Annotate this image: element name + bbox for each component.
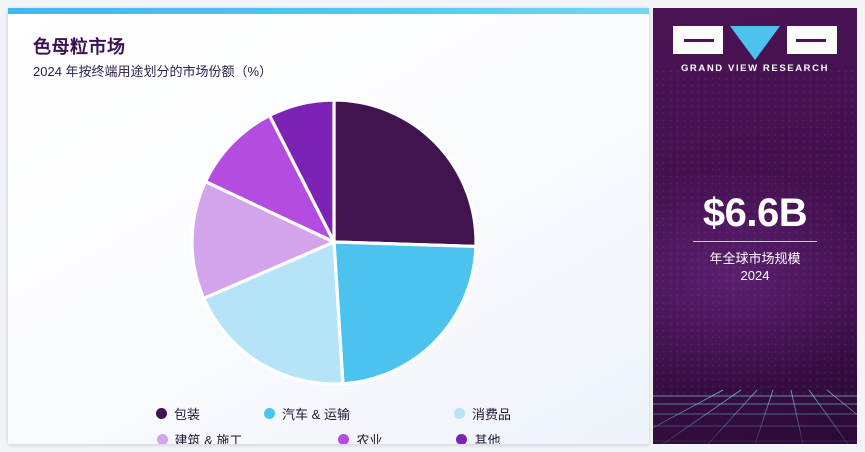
logo-right-bracket-icon [787,26,837,54]
legend-label-others: 其他 [474,430,500,445]
legend-row-2: 建筑 & 施工 农业 其他 [8,426,649,444]
legend-item-packaging[interactable]: 包装 [156,404,200,423]
legend-swatch-automotive [264,408,275,419]
legend-item-automotive[interactable]: 汽车 & 运输 [264,404,350,423]
gvr-logo-icon: GRAND VIEW RESEARCH [653,26,857,74]
legend-label-agriculture: 农业 [356,430,382,445]
pie-slice[interactable] [334,100,476,246]
legend-swatch-agriculture [338,434,349,445]
legend-item-others[interactable]: 其他 [456,430,500,445]
legend-swatch-packaging [156,408,167,419]
legend-item-construction[interactable]: 建筑 & 施工 [157,430,243,445]
legend-label-packaging: 包装 [174,404,200,423]
chart-card: 色母粒市场 2024 年按终端用途划分的市场份额（%） 包装 汽车 & 运输 [8,8,649,444]
stat-divider [693,241,817,242]
logo-triangle-icon [730,26,780,60]
market-size-year: 2024 [653,268,857,283]
pie-chart [186,93,486,393]
logo-left-bracket-icon [673,26,723,54]
logo-marks [653,26,857,56]
page-title: 色母粒市场 [33,33,126,59]
brand-stat-panel: GRAND VIEW RESEARCH $6.6B 年全球市场规模 2024 [653,8,857,444]
infographic-canvas: 色母粒市场 2024 年按终端用途划分的市场份额（%） 包装 汽车 & 运输 [0,0,865,452]
legend-label-consumer: 消费品 [472,404,511,423]
accent-bar [8,8,649,14]
legend-swatch-others [456,434,467,445]
legend-item-agriculture[interactable]: 农业 [338,430,382,445]
legend-item-consumer[interactable]: 消费品 [454,404,511,423]
legend-row-1: 包装 汽车 & 运输 消费品 [8,400,649,426]
legend-swatch-construction [157,434,168,445]
pie-slice[interactable] [334,242,476,384]
panel-grid-graphic [653,366,857,444]
chart-legend: 包装 汽车 & 运输 消费品 建筑 & 施工 [8,400,649,444]
legend-label-construction: 建筑 & 施工 [175,430,243,445]
legend-label-automotive: 汽车 & 运输 [282,404,350,423]
page-subtitle: 2024 年按终端用途划分的市场份额（%） [33,61,272,80]
market-size-label: 年全球市场规模 [653,248,857,267]
legend-swatch-consumer [454,408,465,419]
market-size-value: $6.6B [653,191,857,236]
brand-name: GRAND VIEW RESEARCH [653,63,857,74]
pie-chart-svg [186,93,486,393]
